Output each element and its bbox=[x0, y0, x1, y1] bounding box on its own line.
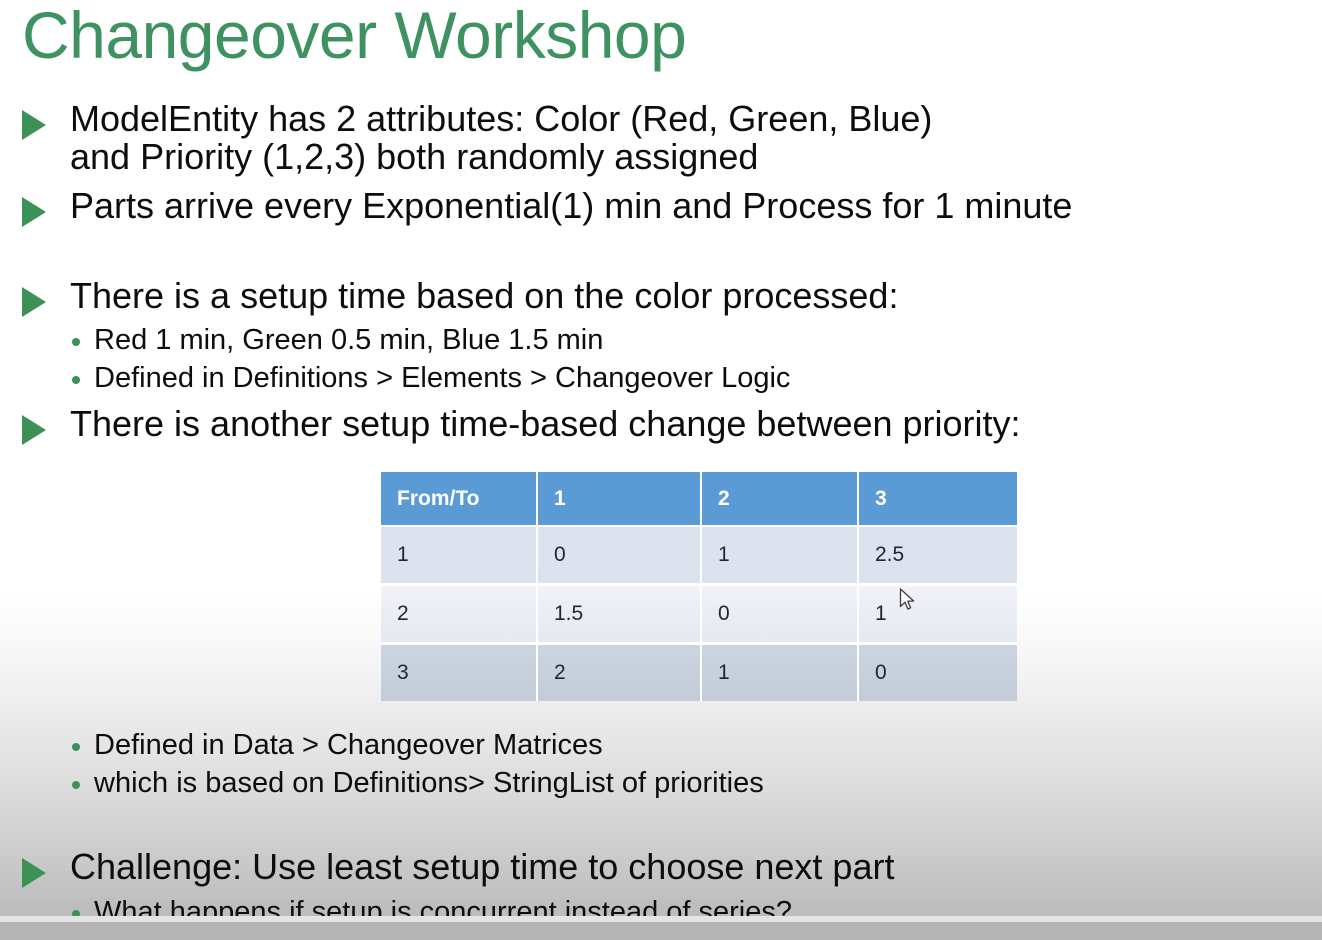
bullet-model-entity-text: ModelEntity has 2 attributes: Color (Red… bbox=[70, 100, 932, 176]
table-header-cell: 2 bbox=[702, 472, 859, 527]
subbullet-data-changeover-matrices-text: Defined in Data > Changeover Matrices bbox=[94, 730, 603, 762]
dot-bullet-icon bbox=[72, 781, 80, 789]
bullet-setup-time-priority-text: There is another setup time-based change… bbox=[70, 405, 1021, 443]
bullet-parts-arrive: Parts arrive every Exponential(1) min an… bbox=[22, 187, 1320, 227]
triangle-bullet-icon bbox=[22, 415, 46, 445]
dot-bullet-icon bbox=[72, 376, 80, 384]
table-row: 2 1.5 0 1 bbox=[381, 586, 1017, 645]
table-row-label: 2 bbox=[381, 586, 538, 645]
triangle-bullet-icon bbox=[22, 287, 46, 317]
bullet-model-entity: ModelEntity has 2 attributes: Color (Red… bbox=[22, 100, 1312, 176]
bullet-setup-time-priority: There is another setup time-based change… bbox=[22, 405, 1312, 445]
bullet-setup-time-color-text: There is a setup time based on the color… bbox=[70, 277, 898, 315]
bullet-challenge-text: Challenge: Use least setup time to choos… bbox=[70, 848, 894, 886]
subbullet-definitions-path-text: Defined in Definitions > Elements > Chan… bbox=[94, 363, 790, 395]
table-row: 3 2 1 0 bbox=[381, 645, 1017, 701]
subbullet-definitions-path: Defined in Definitions > Elements > Chan… bbox=[72, 363, 790, 395]
subbullet-color-setup-times: Red 1 min, Green 0.5 min, Blue 1.5 min bbox=[72, 325, 603, 357]
table-cell: 1 bbox=[859, 586, 1017, 645]
bullet-parts-arrive-text: Parts arrive every Exponential(1) min an… bbox=[70, 187, 1072, 225]
below-slide-area bbox=[0, 922, 1322, 940]
bullet-challenge: Challenge: Use least setup time to choos… bbox=[22, 848, 1312, 888]
table-cell: 2.5 bbox=[859, 527, 1017, 586]
subbullet-data-changeover-matrices: Defined in Data > Changeover Matrices bbox=[72, 730, 603, 762]
table-cell: 1 bbox=[702, 527, 859, 586]
dot-bullet-icon bbox=[72, 338, 80, 346]
table-cell: 0 bbox=[859, 645, 1017, 701]
subbullet-stringlist-priorities: which is based on Definitions> StringLis… bbox=[72, 768, 764, 800]
slide-canvas: Changeover Workshop ModelEntity has 2 at… bbox=[0, 0, 1322, 940]
table-header-cell: From/To bbox=[381, 472, 538, 527]
triangle-bullet-icon bbox=[22, 110, 46, 140]
bullet-setup-time-color: There is a setup time based on the color… bbox=[22, 277, 1312, 317]
table-row-label: 1 bbox=[381, 527, 538, 586]
table-cell: 2 bbox=[538, 645, 702, 701]
table-header-cell: 1 bbox=[538, 472, 702, 527]
table-cell: 1.5 bbox=[538, 586, 702, 645]
subbullet-stringlist-priorities-text: which is based on Definitions> StringLis… bbox=[94, 768, 764, 800]
triangle-bullet-icon bbox=[22, 197, 46, 227]
table-header-cell: 3 bbox=[859, 472, 1017, 527]
triangle-bullet-icon bbox=[22, 858, 46, 888]
table-cell: 0 bbox=[538, 527, 702, 586]
page-title: Changeover Workshop bbox=[22, 2, 686, 68]
subbullet-color-setup-times-text: Red 1 min, Green 0.5 min, Blue 1.5 min bbox=[94, 325, 603, 357]
table-cell: 1 bbox=[702, 645, 859, 701]
table-header-row: From/To 1 2 3 bbox=[381, 472, 1017, 527]
dot-bullet-icon bbox=[72, 743, 80, 751]
changeover-matrix-table: From/To 1 2 3 1 0 1 2.5 2 1.5 0 1 3 2 bbox=[381, 472, 1017, 701]
table-row: 1 0 1 2.5 bbox=[381, 527, 1017, 586]
table-cell: 0 bbox=[702, 586, 859, 645]
table-row-label: 3 bbox=[381, 645, 538, 701]
